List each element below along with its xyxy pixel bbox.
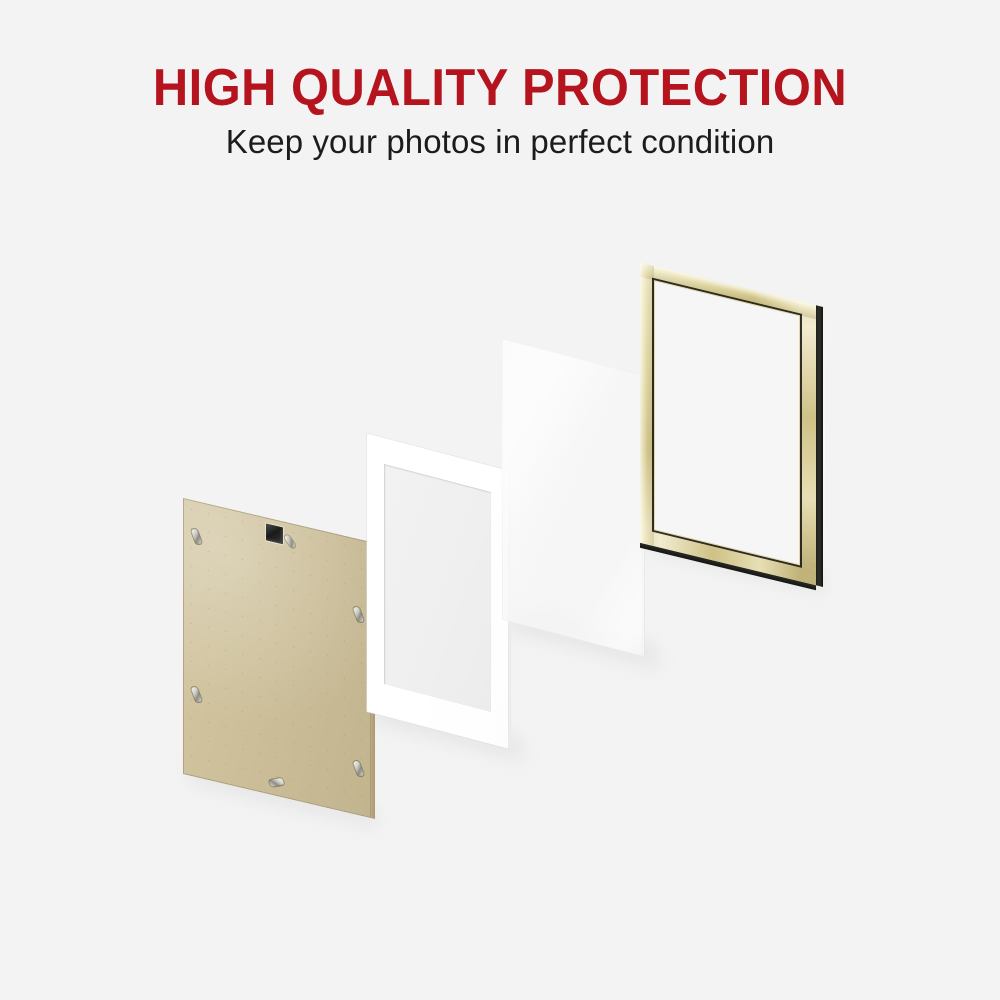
layer-backing-board	[183, 498, 371, 818]
product-marketing-image: HIGH QUALITY PROTECTION Keep your photos…	[0, 0, 1000, 1000]
gold-frame-rabbet-inner-line	[654, 280, 800, 565]
layer-mat-board	[367, 434, 508, 749]
mat-board-window	[384, 464, 491, 712]
gold-frame-rabbet	[652, 278, 802, 568]
layer-acrylic-sheet	[502, 339, 643, 657]
backing-board-face	[183, 498, 371, 818]
layer-gold-frame	[640, 263, 816, 586]
backing-board-texture	[183, 498, 371, 818]
acrylic-sheet-face	[502, 339, 643, 657]
exploded-frame-illustration	[0, 0, 1000, 1000]
gold-frame-edge-highlight	[823, 307, 825, 587]
mat-board-face	[367, 434, 508, 749]
acrylic-sheet-reflection	[502, 339, 643, 657]
gold-frame-side-depth	[816, 305, 823, 587]
